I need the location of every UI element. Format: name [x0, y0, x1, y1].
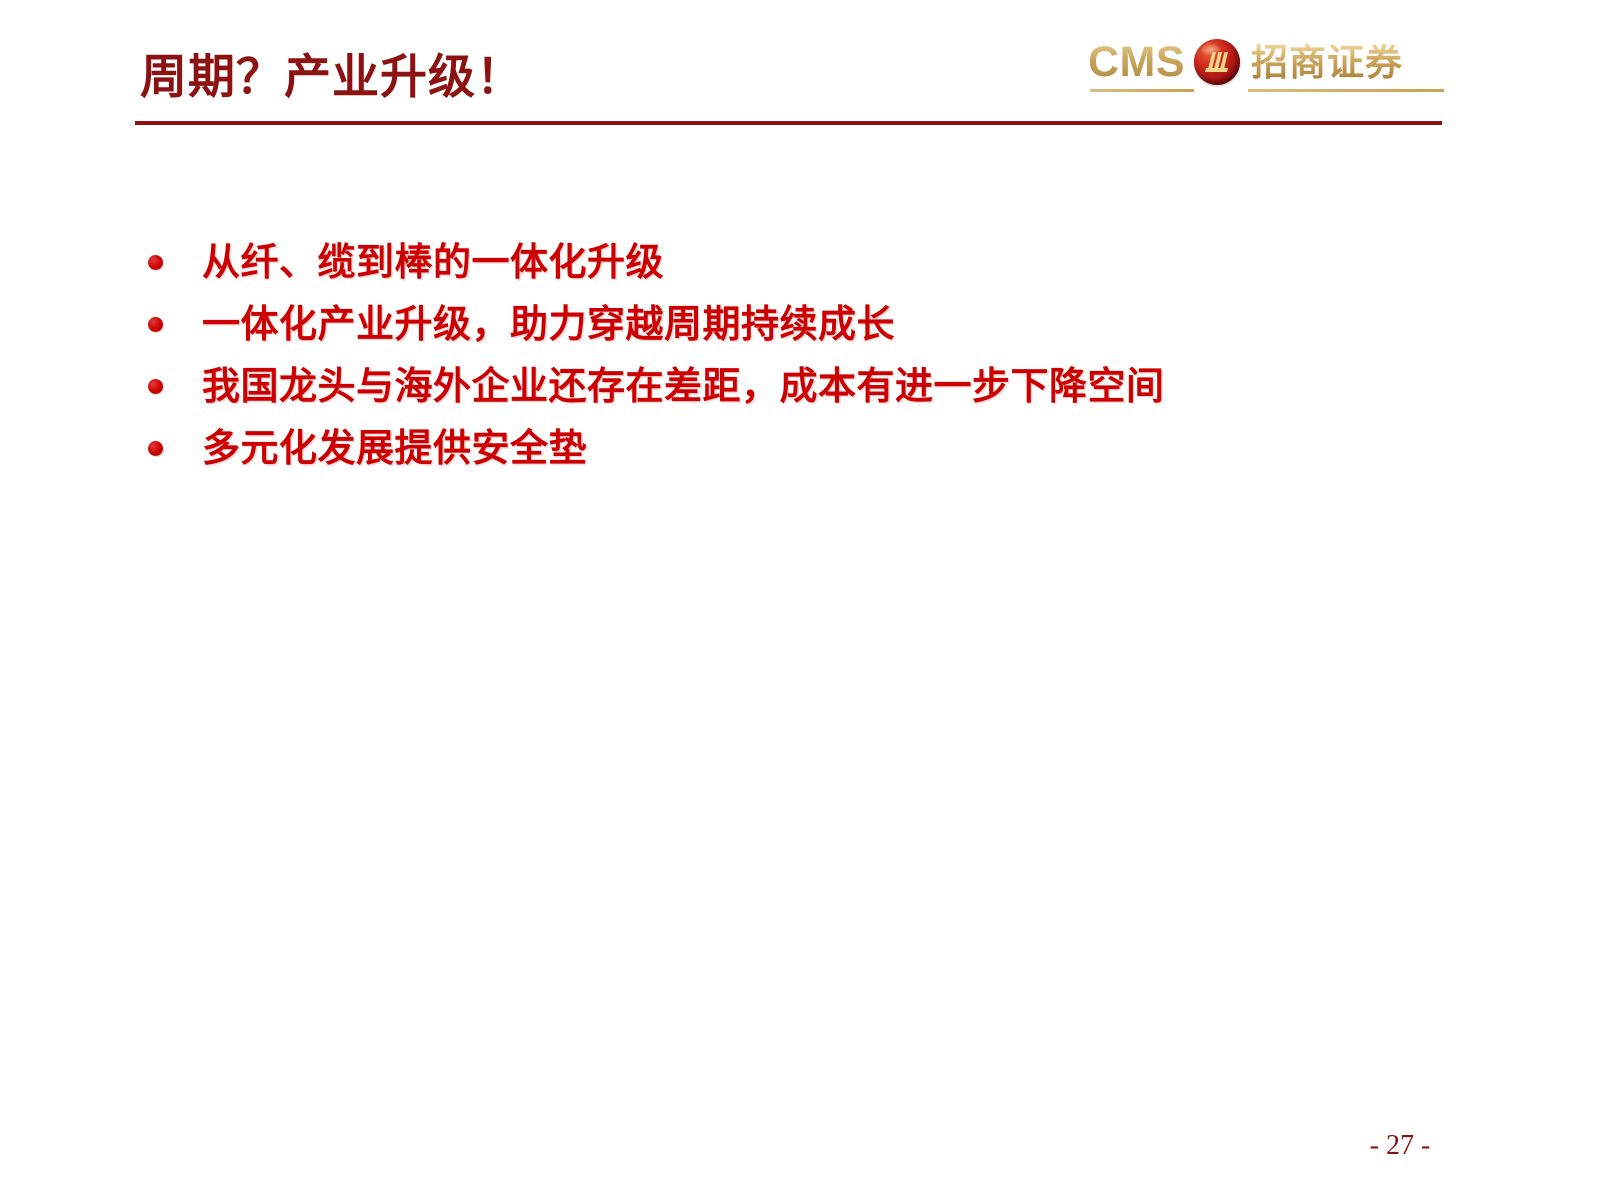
list-item-label: 一体化产业升级，助力穿越周期持续成长	[163, 300, 895, 348]
list-item-label: 从纤、缆到棒的一体化升级	[163, 238, 664, 286]
logo-underline-right	[1248, 89, 1444, 92]
company-chinese-name: 招商证券	[1240, 44, 1403, 81]
list-item: 多元化发展提供安全垫	[148, 424, 1448, 486]
slide-canvas: CMS 招商证券 周期？产业升级！	[0, 0, 1600, 1200]
company-logo: CMS 招商证券	[1088, 36, 1448, 104]
logo-row: CMS 招商证券	[1088, 36, 1448, 88]
page-number: - 27 -	[1340, 1130, 1460, 1162]
bullet-list: 从纤、缆到棒的一体化升级 一体化产业升级，助力穿越周期持续成长 我国龙头与海外企…	[148, 238, 1448, 486]
page-title: 周期？产业升级！	[140, 52, 524, 104]
bullet-dot-icon	[148, 255, 163, 270]
logo-underline	[1088, 89, 1448, 93]
bullet-dot-icon	[148, 441, 163, 456]
list-item: 一体化产业升级，助力穿越周期持续成长	[148, 300, 1448, 362]
cms-sphere-emblem-icon	[1194, 39, 1240, 85]
cms-wordmark: CMS	[1088, 41, 1194, 84]
list-item-label: 多元化发展提供安全垫	[163, 424, 587, 472]
list-item: 从纤、缆到棒的一体化升级	[148, 238, 1448, 300]
logo-underline-left	[1090, 89, 1194, 92]
list-item: 我国龙头与海外企业还存在差距，成本有进一步下降空间	[148, 362, 1448, 424]
bullet-dot-icon	[148, 379, 163, 394]
title-divider	[135, 121, 1442, 125]
bullet-dot-icon	[148, 317, 163, 332]
list-item-label: 我国龙头与海外企业还存在差距，成本有进一步下降空间	[163, 362, 1165, 410]
